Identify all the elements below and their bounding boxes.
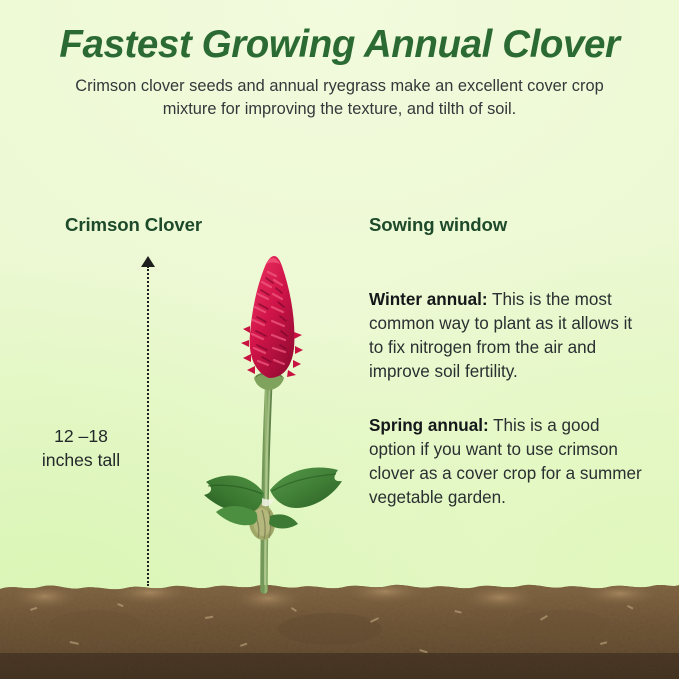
winter-annual-paragraph: Winter annual: This is the most common w…	[369, 288, 646, 384]
page-title: Fastest Growing Annual Clover	[0, 24, 679, 66]
measurement-value: 12 –18	[22, 425, 140, 449]
winter-annual-label: Winter annual:	[369, 290, 488, 309]
leaf-right-lower	[269, 514, 298, 528]
header: Fastest Growing Annual Clover Crimson cl…	[0, 24, 679, 121]
infographic-canvas: Fastest Growing Annual Clover Crimson cl…	[0, 0, 679, 679]
leaf-right-upper	[270, 467, 342, 508]
left-column-heading: Crimson Clover	[65, 214, 202, 236]
measurement-unit: inches tall	[22, 449, 140, 473]
spring-annual-label: Spring annual:	[369, 416, 489, 435]
measurement-label: 12 –18 inches tall	[22, 425, 140, 473]
crimson-clover-plant	[196, 250, 366, 602]
measure-dotted-line	[147, 266, 149, 586]
spring-annual-paragraph: Spring annual: This is a good option if …	[369, 414, 646, 510]
page-subtitle: Crimson clover seeds and annual ryegrass…	[55, 75, 625, 122]
right-column-heading: Sowing window	[369, 214, 507, 236]
clover-flower-head	[241, 256, 303, 378]
